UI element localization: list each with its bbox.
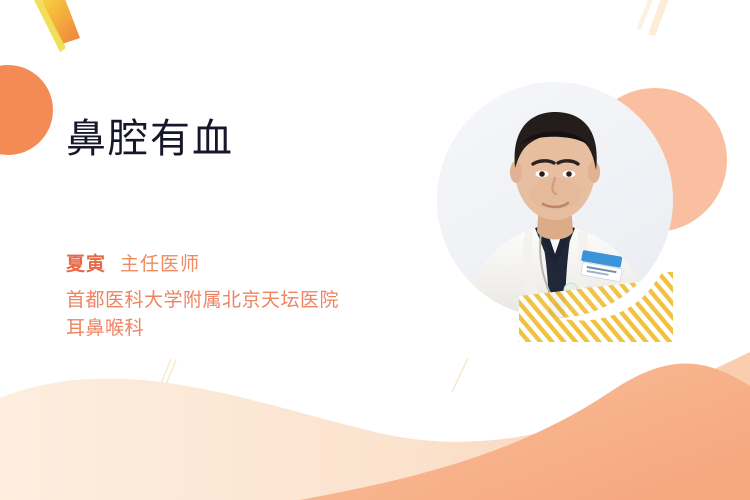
hospital-name: 首都医科大学附属北京天坛医院 bbox=[66, 287, 339, 315]
doctor-name: 夏寅 bbox=[66, 254, 106, 275]
doctor-line: 夏寅主任医师 bbox=[66, 249, 200, 276]
wave-light-decoration bbox=[0, 352, 750, 500]
wave-strong-decoration bbox=[300, 363, 750, 500]
doctor-topic-cover-card: 鼻腔有血 夏寅主任医师 首都医科大学附属北京天坛医院 耳鼻喉科 bbox=[0, 0, 750, 500]
top-left-wedge-decoration bbox=[27, 0, 80, 52]
department-name: 耳鼻喉科 bbox=[66, 315, 339, 343]
doctor-affiliation: 首都医科大学附属北京天坛医院 耳鼻喉科 bbox=[66, 287, 339, 342]
page-title: 鼻腔有血 bbox=[66, 116, 234, 162]
top-right-stroke-decoration bbox=[637, 0, 671, 36]
striped-disc-overflow bbox=[437, 82, 673, 342]
doctor-title: 主任医师 bbox=[120, 254, 200, 275]
faint-diagonal-lines bbox=[153, 358, 468, 404]
orange-circle-decoration bbox=[0, 65, 53, 155]
